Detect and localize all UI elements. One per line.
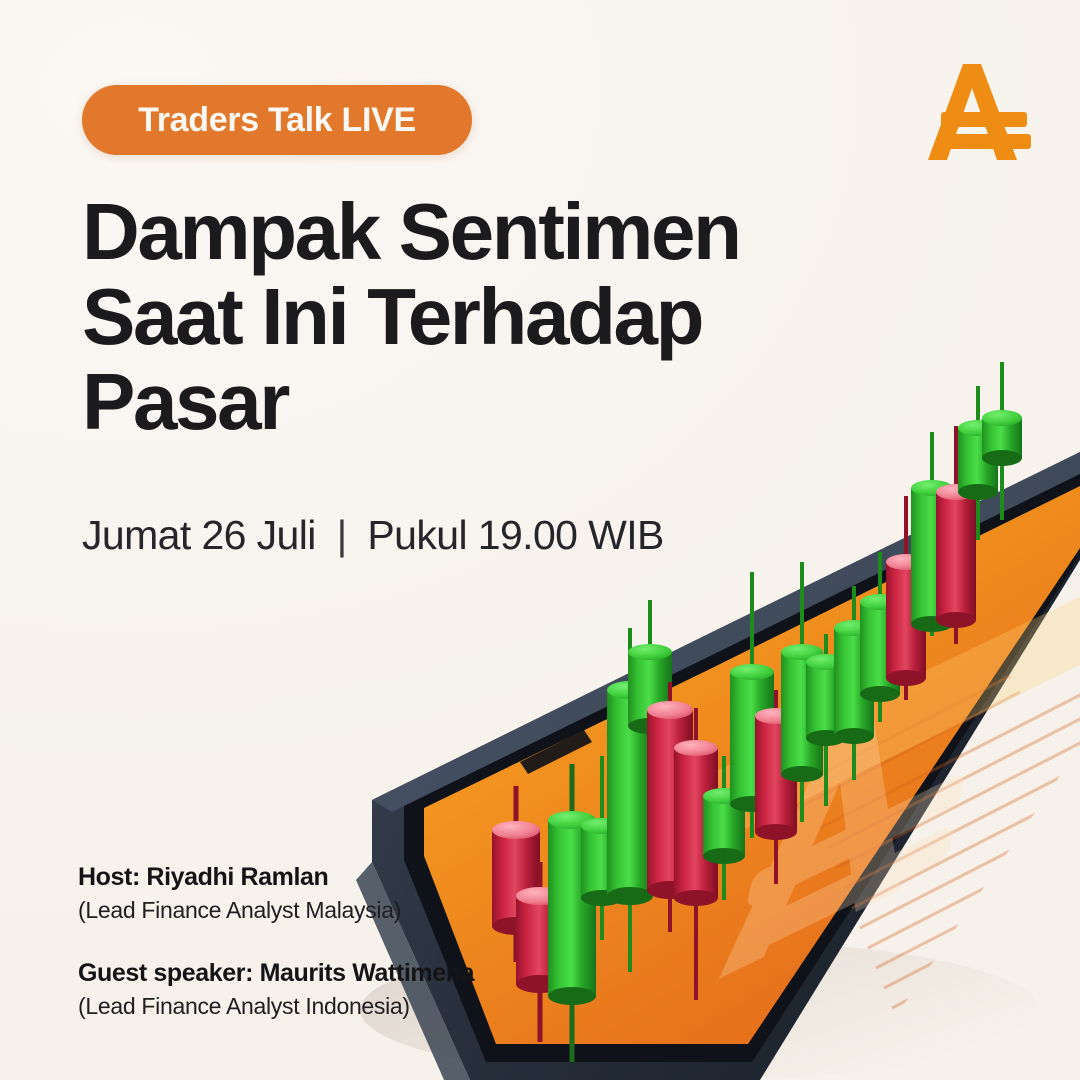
headline-line-2: Saat Ini Terhadap [82, 275, 782, 360]
host-name: Host: Riyadhi Ramlan [78, 862, 474, 893]
brand-a-logo [925, 60, 1035, 165]
schedule-line: Jumat 26 Juli | Pukul 19.00 WIB [82, 512, 664, 559]
page-title: Dampak Sentimen Saat Ini Terhadap Pasar [82, 190, 782, 444]
speakers-block: Host: Riyadhi Ramlan (Lead Finance Analy… [78, 862, 474, 1022]
host-role: (Lead Finance Analyst Malaysia) [78, 896, 474, 926]
schedule-time: Pukul 19.00 WIB [367, 512, 663, 558]
guest-entry: Guest speaker: Maurits Wattimena (Lead F… [78, 958, 474, 1022]
headline-line-3: Pasar [82, 360, 782, 445]
promo-poster: Traders Talk LIVE Dampak Sentimen Saat I… [0, 0, 1080, 1080]
guest-name: Guest speaker: Maurits Wattimena [78, 958, 474, 989]
schedule-separator: | [337, 512, 347, 559]
live-badge-label: Traders Talk LIVE [138, 101, 416, 140]
schedule-date: Jumat 26 Juli [82, 512, 316, 558]
host-entry: Host: Riyadhi Ramlan (Lead Finance Analy… [78, 862, 474, 926]
headline-line-1: Dampak Sentimen [82, 190, 782, 275]
guest-role: (Lead Finance Analyst Indonesia) [78, 992, 474, 1022]
live-badge[interactable]: Traders Talk LIVE [82, 85, 472, 155]
